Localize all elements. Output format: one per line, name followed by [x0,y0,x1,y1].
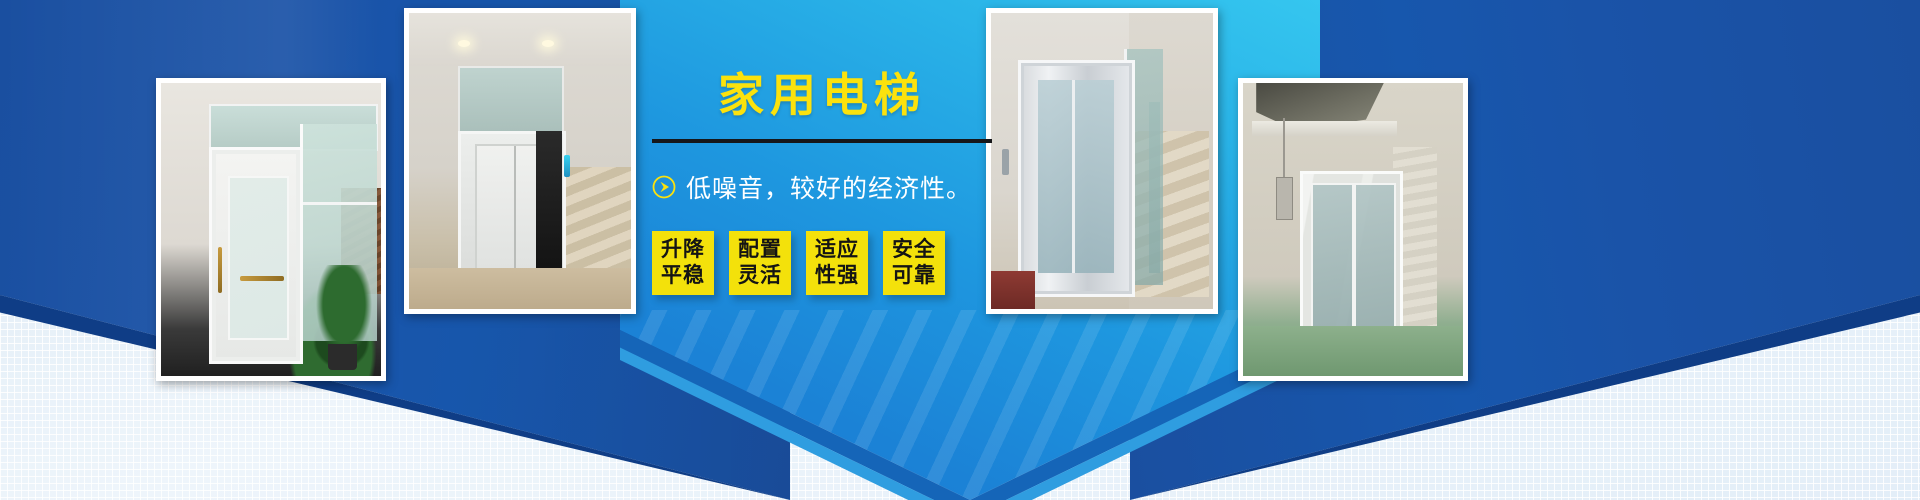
ceiling [409,13,631,66]
photo-image-elevator-installation [1243,83,1463,376]
play-circle-icon [652,175,676,199]
feature-badge[interactable]: 安全 可靠 [883,231,945,295]
badge-line-1: 安全 [892,237,936,263]
banner-text-block: 家用电梯 低噪音，较好的经济性。 升降 平稳 配置 灵活 适应 性强 [652,70,992,295]
ceiling-light-right [542,40,554,47]
red-sofa [991,271,1035,309]
control-box [1276,177,1293,220]
feature-badge[interactable]: 升降 平稳 [652,231,714,295]
photo-card-hall-elevator [404,8,636,314]
badge-line-1: 配置 [738,237,782,263]
badge-line-2: 性强 [815,263,859,289]
subtitle-text: 低噪音，较好的经济性。 [686,169,972,205]
subtitle-row: 低噪音，较好的经济性。 [652,169,992,205]
badge-line-2: 平稳 [661,263,705,289]
feature-badge[interactable]: 配置 灵活 [729,231,791,295]
photo-card-stainless-elevator [986,8,1218,314]
call-panel [1002,149,1009,175]
badge-line-2: 可靠 [892,263,936,289]
elevator-shaft-glass [458,66,564,135]
green-epoxy-floor [1243,326,1463,376]
floor [409,268,631,309]
feature-badge[interactable]: 适应 性强 [806,231,868,295]
feature-badge-list: 升降 平稳 配置 灵活 适应 性强 安全 可靠 [652,231,992,295]
door-handle-horizontal [240,276,284,281]
elevator-call-display [564,155,570,177]
title-divider [652,139,992,143]
elevator-frame [1018,60,1135,297]
page-title: 家用电梯 [652,70,992,121]
photo-card-elevator-installation [1238,78,1468,381]
photo-image-glass-home-elevator [161,83,381,376]
enclosure-glass-right [1354,183,1397,347]
home-elevator-promo-banner: 家用电梯 低噪音，较好的经济性。 升降 平稳 配置 灵活 适应 性强 [0,0,1920,500]
badge-line-1: 升降 [661,237,705,263]
door-handle-vertical [218,247,222,293]
elevator-door [209,147,303,364]
elevator-shaft-opening [536,131,563,285]
photo-card-glass-home-elevator [156,78,386,381]
badge-line-2: 灵活 [738,263,782,289]
ceiling-light-left [458,40,470,47]
photo-image-hall-elevator [409,13,631,309]
elevator-door-glass [1038,80,1113,274]
badge-line-1: 适应 [815,237,859,263]
photo-image-stainless-elevator [991,13,1213,309]
plant-pot [328,344,357,370]
ceiling-beam [1252,121,1397,136]
enclosure-glass-left [1311,183,1354,347]
